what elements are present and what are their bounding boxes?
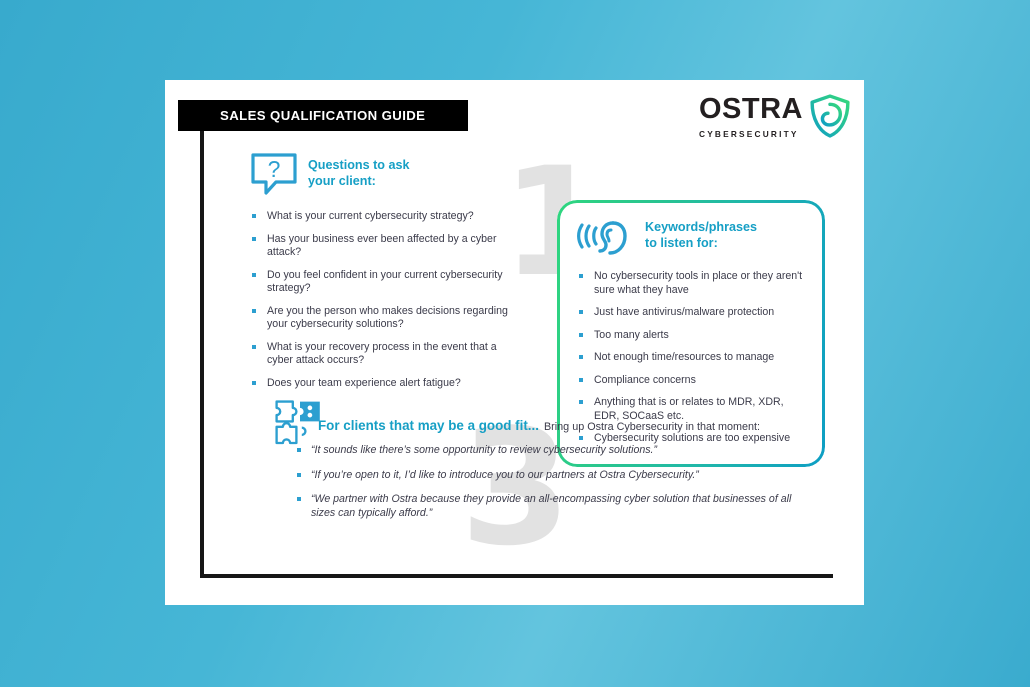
list-item: Not enough time/resources to manage xyxy=(577,351,809,365)
question-speech-bubble-icon: ? xyxy=(250,152,298,196)
list-item: What is your current cybersecurity strat… xyxy=(250,210,510,224)
svg-text:?: ? xyxy=(268,156,281,182)
sales-qualification-guide-document: 1 2 3 SALES QUALIFICATION GUIDE OSTRA CY… xyxy=(165,80,864,605)
list-item: Do you feel confident in your current cy… xyxy=(250,269,510,296)
logo-wordmark: OSTRA xyxy=(699,95,803,124)
good-fit-headline: For clients that may be a good fit... Br… xyxy=(318,418,818,433)
list-item: Compliance concerns xyxy=(577,374,809,388)
section-good-fit: For clients that may be a good fit... Br… xyxy=(273,418,818,531)
list-item: “If you’re open to it, I’d like to intro… xyxy=(295,469,818,483)
list-item: No cybersecurity tools in place or they … xyxy=(577,270,809,297)
list-item: Does your team experience alert fatigue? xyxy=(250,377,510,391)
section-2-heading-line2: to listen for: xyxy=(645,236,757,252)
section-questions-to-ask: ? Questions to ask your client: What is … xyxy=(250,152,510,399)
list-item: Too many alerts xyxy=(577,329,809,343)
section-1-heading: ? Questions to ask your client: xyxy=(250,152,510,196)
section-1-heading-line2: your client: xyxy=(308,174,409,190)
list-item: Has your business ever been affected by … xyxy=(250,233,510,260)
list-item: What is your recovery process in the eve… xyxy=(250,341,510,368)
section-1-heading-line1: Questions to ask xyxy=(308,158,409,174)
list-item: Are you the person who makes decisions r… xyxy=(250,305,510,332)
good-fit-phrases-list: “It sounds like there’s some opportunity… xyxy=(295,444,818,520)
list-item: “We partner with Ostra because they prov… xyxy=(295,493,818,520)
document-title-bar: SALES QUALIFICATION GUIDE xyxy=(178,100,468,131)
list-item: “It sounds like there’s some opportunity… xyxy=(295,444,818,458)
good-fit-headline-rest: Bring up Ostra Cybersecurity in that mom… xyxy=(544,421,760,433)
section-1-heading-text: Questions to ask your client: xyxy=(308,158,409,189)
good-fit-headline-bold: For clients that may be a good fit... xyxy=(318,418,539,433)
questions-list: What is your current cybersecurity strat… xyxy=(250,210,510,390)
page-title: SALES QUALIFICATION GUIDE xyxy=(220,108,425,123)
list-item: Just have antivirus/malware protection xyxy=(577,306,809,320)
logo-tagline: CYBERSECURITY xyxy=(699,129,799,139)
logo-text-block: OSTRA CYBERSECURITY xyxy=(699,94,803,139)
section-2-heading-text: Keywords/phrases to listen for: xyxy=(645,220,757,251)
listening-ear-icon xyxy=(577,216,635,256)
ostra-logo: OSTRA CYBERSECURITY xyxy=(699,94,852,139)
section-2-heading: Keywords/phrases to listen for: xyxy=(577,216,809,256)
frame-left-rule xyxy=(200,100,204,577)
section-2-heading-line1: Keywords/phrases xyxy=(645,220,757,236)
ostra-shield-icon xyxy=(808,94,852,138)
